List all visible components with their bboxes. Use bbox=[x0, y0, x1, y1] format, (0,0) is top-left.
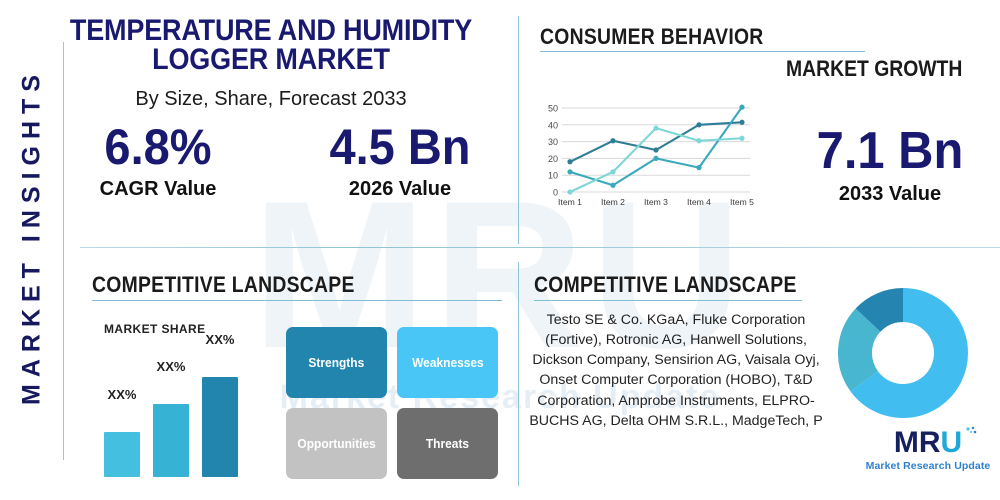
svg-text:Item 4: Item 4 bbox=[687, 197, 711, 207]
svg-text:Item 2: Item 2 bbox=[601, 197, 625, 207]
bar-3 bbox=[202, 377, 238, 477]
kpi-cagr: 6.8% CAGR Value bbox=[58, 122, 258, 201]
infographic-page: MRU Market Research Update MARKET INSIGH… bbox=[0, 0, 1000, 500]
bar-1 bbox=[104, 432, 140, 477]
kpi-2026-value: 4.5 Bn bbox=[306, 122, 494, 172]
consumer-behavior-line-chart: 01020304050 Item 1Item 2Item 3Item 4Item… bbox=[536, 100, 758, 218]
swot-box-threats[interactable]: Threats bbox=[397, 408, 498, 479]
svg-text:0: 0 bbox=[553, 188, 558, 198]
section-heading-market-growth: MARKET GROWTH bbox=[786, 56, 962, 82]
kpi-2033: 7.1 Bn 2033 Value bbox=[780, 125, 1000, 206]
bar-label-3: XX% bbox=[197, 332, 243, 347]
bottom-vertical-divider bbox=[518, 262, 519, 486]
section-heading-consumer-behavior: CONSUMER BEHAVIOR bbox=[540, 24, 764, 50]
line-chart-x-axis-labels: Item 1Item 2Item 3Item 4Item 5 bbox=[558, 197, 754, 207]
bar-label-1: XX% bbox=[99, 387, 145, 402]
svg-text:30: 30 bbox=[548, 137, 558, 147]
logo-letter-r: R bbox=[919, 426, 941, 459]
svg-text:Item 3: Item 3 bbox=[644, 197, 668, 207]
svg-text:Item 1: Item 1 bbox=[558, 197, 582, 207]
market-share-bar-chart: MARKET SHARE XX%XX%XX% bbox=[96, 322, 266, 487]
swot-label-threats: Threats bbox=[426, 436, 469, 451]
swot-box-opportunities[interactable]: Opportunities bbox=[286, 408, 387, 479]
logo-letter-m: M bbox=[894, 426, 919, 459]
logo-tagline: Market Research Update bbox=[862, 460, 994, 472]
swot-box-strengths[interactable]: Strengths bbox=[286, 327, 387, 398]
market-share-donut-chart bbox=[838, 288, 968, 418]
bar-2 bbox=[153, 404, 189, 477]
section-heading-competitive-landscape-left: COMPETITIVE LANDSCAPE bbox=[92, 272, 355, 298]
swot-label-opportunities: Opportunities bbox=[297, 436, 375, 451]
svg-text:40: 40 bbox=[548, 120, 558, 130]
horizontal-divider bbox=[80, 247, 1000, 248]
mru-logo: MRU Market Research Update bbox=[862, 428, 994, 472]
logo-droplet-icon bbox=[964, 426, 978, 440]
market-share-title: MARKET SHARE bbox=[104, 322, 205, 336]
donut-segment-2 bbox=[855, 320, 868, 381]
svg-text:50: 50 bbox=[548, 104, 558, 114]
kpi-cagr-value: 6.8% bbox=[64, 122, 252, 172]
bar-label-2: XX% bbox=[148, 359, 194, 374]
swot-matrix: Strengths Weaknesses Opportunities Threa… bbox=[286, 327, 498, 479]
svg-text:Item 5: Item 5 bbox=[730, 197, 754, 207]
competitive-landscape-left-underline bbox=[92, 300, 502, 301]
kpi-2026: 4.5 Bn 2026 Value bbox=[300, 122, 500, 201]
competitive-landscape-right-underline bbox=[534, 300, 802, 301]
svg-text:20: 20 bbox=[548, 154, 558, 164]
section-heading-competitive-landscape-right: COMPETITIVE LANDSCAPE bbox=[534, 272, 797, 298]
kpi-cagr-caption: CAGR Value bbox=[58, 178, 258, 201]
line-chart-svg: 01020304050 Item 1Item 2Item 3Item 4Item… bbox=[536, 100, 758, 218]
company-list: Testo SE & Co. KGaA, Fluke Corporation (… bbox=[528, 310, 824, 431]
page-subtitle: By Size, Share, Forecast 2033 bbox=[28, 88, 514, 111]
kpi-2033-caption: 2033 Value bbox=[780, 183, 1000, 206]
line-chart-series bbox=[567, 105, 744, 195]
sidebar: MARKET INSIGHTS bbox=[0, 0, 64, 500]
top-vertical-divider bbox=[518, 16, 519, 244]
donut-segment-3 bbox=[868, 305, 903, 320]
consumer-behavior-underline bbox=[540, 51, 865, 52]
logo-letter-u: U bbox=[941, 426, 963, 459]
kpi-2026-caption: 2026 Value bbox=[300, 178, 500, 201]
kpi-2033-value: 7.1 Bn bbox=[787, 125, 994, 177]
page-title: TEMPERATURE AND HUMIDITY LOGGER MARKET bbox=[52, 16, 489, 75]
donut-svg bbox=[838, 288, 968, 418]
donut-segments bbox=[855, 305, 951, 401]
swot-label-weaknesses: Weaknesses bbox=[412, 355, 484, 370]
swot-label-strengths: Strengths bbox=[309, 355, 365, 370]
sidebar-label: MARKET INSIGHTS bbox=[18, 17, 47, 457]
swot-box-weaknesses[interactable]: Weaknesses bbox=[397, 327, 498, 398]
svg-text:10: 10 bbox=[548, 171, 558, 181]
line-chart-y-axis-labels: 01020304050 bbox=[548, 104, 558, 198]
